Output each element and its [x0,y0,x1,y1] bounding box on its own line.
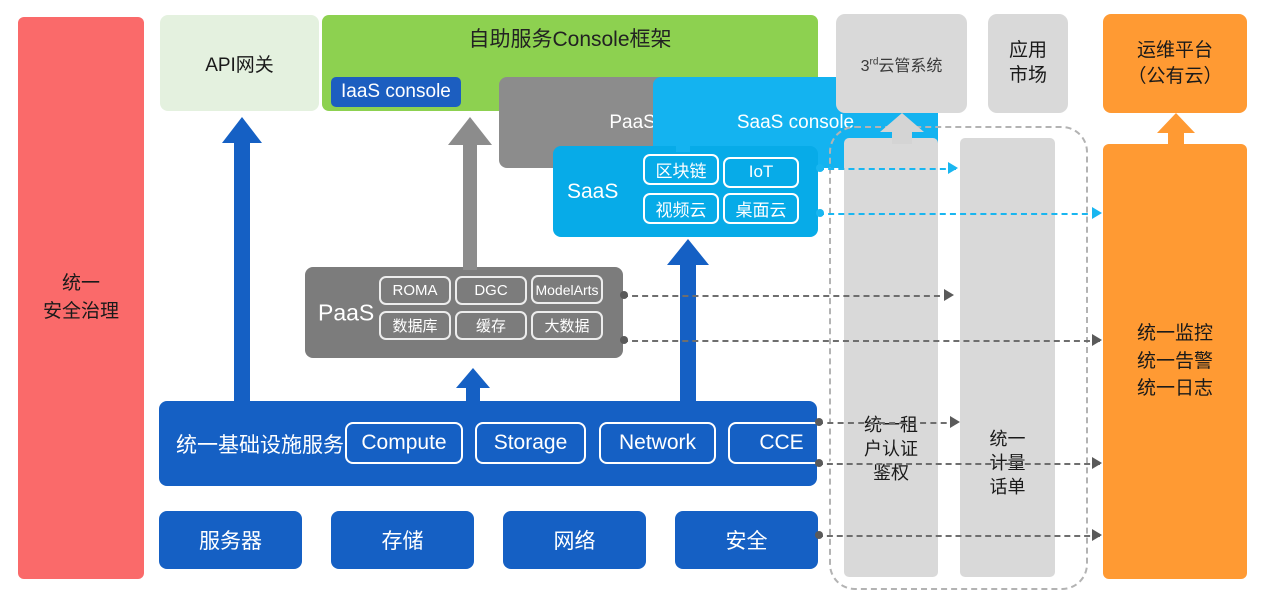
dot-hardware-row [815,531,823,539]
arrowhead-infra-to-auth [950,416,960,428]
arrow-infra-to-api-gateway [222,117,262,407]
saas-service-desktop-cloud[interactable]: 桌面云 [723,193,799,224]
arrowhead-saas-to-auth [948,162,958,174]
arrow-infra-to-saas [667,239,709,404]
ops-line-1: 统一监控 [1137,320,1213,348]
hardware-network[interactable]: 网络 [503,511,646,569]
dot-infra-row2 [815,459,823,467]
arrowhead-infra-to-ops [1092,457,1102,469]
paas-service-grid: ROMADGCModelArts数据库缓存大数据 [379,275,621,346]
hardware-storage[interactable]: 存储 [331,511,474,569]
arrowhead-paas-to-ops [1092,334,1102,346]
paas-service-bigdata[interactable]: 大数据 [531,311,603,340]
arrow-to-third-party-cloud [880,113,924,143]
dot-infra-row1 [815,418,823,426]
paas-label: PaaS [318,299,374,326]
auth-line-3: 鉴权 [844,462,938,486]
dashed-saas-to-ops [818,213,1098,215]
arrowhead-paas-to-auth [944,289,954,301]
console-title: 自助服务Console框架 [322,23,818,53]
hardware-security[interactable]: 安全 [675,511,818,569]
saas-service-video-cloud[interactable]: 视频云 [643,193,719,224]
saas-service-iot[interactable]: IoT [723,157,799,188]
block-saas: SaaS 区块链IoT视频云桌面云 [553,146,818,237]
paas-service-dgc[interactable]: DGC [455,276,527,305]
column-unified-tenant-auth: 统一租 户认证 鉴权 [844,138,938,577]
billing-line-1: 统一 [960,428,1055,452]
panel-unified-ops: 统一监控 统一告警 统一日志 [1103,144,1247,579]
box-api-gateway[interactable]: API网关 [160,15,319,111]
auth-line-1: 统一租 [844,414,938,438]
saas-service-blockchain[interactable]: 区块链 [643,154,719,185]
arrow-to-ops-platform [1157,113,1195,145]
infra-service-compute[interactable]: Compute [345,422,463,464]
third-party-label: 3rd云管系统 [861,52,943,76]
box-ops-platform-public-cloud[interactable]: 运维平台 （公有云） [1103,14,1247,113]
saas-label: SaaS [567,180,618,204]
arrow-saas-to-console [665,116,701,150]
app-market-line-2: 市场 [1009,64,1047,89]
arrowhead-hardware-to-ops [1092,529,1102,541]
dashed-paas-to-ops [622,340,1100,342]
api-gateway-label: API网关 [205,50,274,77]
infra-label: 统一基础设施服务 [176,429,344,459]
ops-line-2: 统一告警 [1137,348,1213,376]
dashed-infra-to-ops [817,463,1100,465]
billing-line-3: 话单 [960,476,1055,500]
box-third-party-cloud-mgmt[interactable]: 3rd云管系统 [836,14,967,113]
column-unified-metering-billing: 统一 计量 话单 [960,138,1055,577]
panel-self-service-console: 自助服务Console框架 IaaS console PaaS console … [322,15,818,111]
dot-paas-row1 [620,291,628,299]
infra-service-cce[interactable]: CCE [728,422,835,464]
panel-unified-security: 统一 安全治理 [18,17,144,579]
app-market-line-1: 应用 [1009,39,1047,64]
dashed-saas-to-auth [818,168,956,170]
console-chip-row: IaaS console PaaS console SaaS console [331,77,809,107]
paas-service-modelarts[interactable]: ModelArts [531,275,603,304]
saas-service-grid: 区块链IoT视频云桌面云 [643,154,811,229]
dashed-infra-to-auth [817,422,957,424]
security-line-2: 安全治理 [43,298,119,327]
paas-service-roma[interactable]: ROMA [379,276,451,305]
chip-iaas-console[interactable]: IaaS console [331,77,461,107]
dashed-hardware-to-ops [817,535,1100,537]
dot-saas-row2 [816,209,824,217]
dashed-paas-to-auth [622,295,950,297]
paas-service-database[interactable]: 数据库 [379,311,451,340]
dot-saas-row1 [816,164,824,172]
ops-platform-title: 运维平台 [1127,38,1222,64]
hardware-server[interactable]: 服务器 [159,511,302,569]
ops-platform-subtitle: （公有云） [1127,64,1222,90]
dot-paas-row2 [620,336,628,344]
infra-service-storage[interactable]: Storage [475,422,586,464]
box-app-market[interactable]: 应用 市场 [988,14,1068,113]
security-line-1: 统一 [43,270,119,299]
infra-service-network[interactable]: Network [599,422,716,464]
arrow-infra-to-paas [456,368,490,403]
arrow-paas-to-console [448,117,492,269]
ops-line-3: 统一日志 [1137,375,1213,403]
block-unified-infrastructure: 统一基础设施服务 Compute Storage Network CCE [159,401,817,486]
arrowhead-saas-to-ops [1092,207,1102,219]
paas-service-cache[interactable]: 缓存 [455,311,527,340]
block-paas: PaaS ROMADGCModelArts数据库缓存大数据 [305,267,623,358]
auth-line-2: 户认证 [844,438,938,462]
